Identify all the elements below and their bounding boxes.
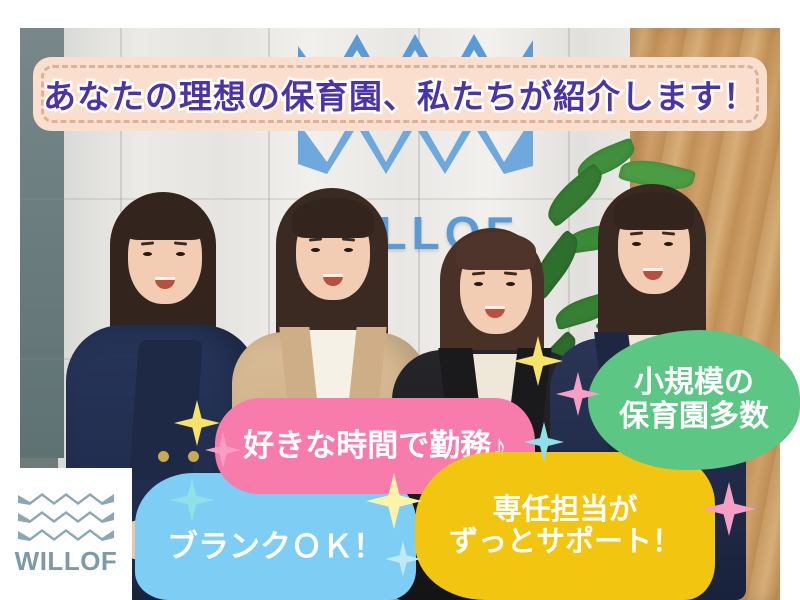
blob-small-nursery-line2: 保育園多数 (619, 400, 769, 434)
blob-dedicated-support[interactable]: 専任担当が ずっとサポート！ (415, 452, 715, 600)
logo-zigzag-icon (18, 492, 114, 505)
headline-text: あなたの理想の保育園、私たちが紹介します！ (33, 57, 767, 131)
blob-blank-ok-line1: ブランクＯＫ！ (167, 530, 384, 565)
blob-dedicated-support-line1: 専任担当が (492, 494, 637, 526)
banner-image: WILLOF (0, 0, 800, 600)
logo-zigzag-icon (18, 510, 114, 523)
blob-dedicated-support-line2: ずっとサポート！ (449, 526, 681, 558)
logo-zigzag-icon (18, 528, 114, 541)
blob-small-nursery[interactable]: 小規模の 保育園多数 (588, 330, 800, 470)
blob-small-nursery-line1: 小規模の (634, 366, 754, 400)
willof-logo[interactable]: WILLOF (0, 468, 132, 600)
headline-banner: あなたの理想の保育園、私たちが紹介します！ (33, 57, 767, 131)
willof-wordmark: WILLOF (15, 546, 118, 577)
